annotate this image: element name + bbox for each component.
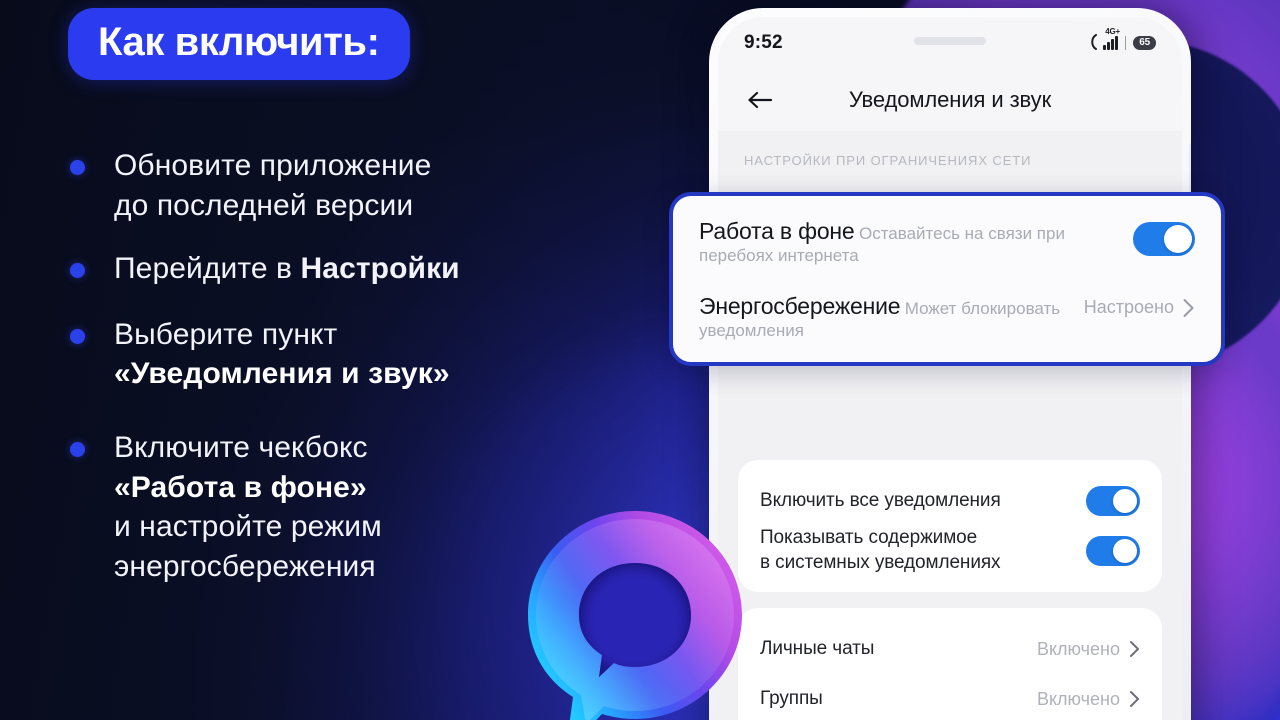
status-badge: Настроено: [1084, 297, 1174, 318]
list-item[interactable]: Энергосбережение Может блокировать уведо…: [699, 293, 1195, 342]
promo-image-root: Как включить: Обновите приложение до пос…: [0, 0, 1280, 720]
bullet-dot-icon: [70, 442, 85, 457]
chats-card: Личные чаты Включено Группы Включено: [738, 608, 1162, 720]
row-text-group: Работа в фоне Оставайтесь на связи при п…: [699, 218, 1133, 267]
status-bar: 9:52 4G+ 65: [718, 17, 1182, 69]
list-item: Выберите пункт «Уведомления и звук»: [66, 315, 646, 394]
row-label: Показывать содержимое в системных уведом…: [760, 526, 1086, 575]
list-item[interactable]: Работа в фоне Оставайтесь на связи при п…: [699, 218, 1195, 267]
step-line: «Уведомления и звук»: [114, 354, 646, 394]
status-badge: Включено: [1037, 689, 1120, 710]
highlighted-settings-card: Работа в фоне Оставайтесь на связи при п…: [669, 192, 1225, 366]
step-line: Выберите пункт: [114, 315, 646, 355]
notifications-card: Включить все уведомления Показывать соде…: [738, 460, 1162, 592]
max-messenger-logo: [523, 505, 748, 720]
signal-bars-icon: 4G+: [1103, 36, 1118, 50]
bullet-dot-icon: [70, 160, 85, 175]
step-line: до последней версии: [114, 186, 646, 226]
row-label: Группы: [760, 687, 1037, 712]
status-time: 9:52: [744, 32, 783, 54]
battery-icon: 65: [1133, 36, 1156, 50]
sim-divider: [1125, 36, 1126, 50]
vibrate-icon: [1089, 34, 1099, 53]
step-text-plain: Перейдите в: [114, 252, 301, 285]
row-label: Личные чаты: [760, 637, 1037, 662]
status-indicators: 4G+ 65: [1089, 34, 1156, 53]
list-item[interactable]: Показывать содержимое в системных уведом…: [760, 526, 1140, 576]
row-label-line2: в системных уведомлениях: [760, 552, 1000, 573]
step-text-bold: Настройки: [301, 252, 460, 285]
section-label: НАСТРОЙКИ ПРИ ОГРАНИЧЕНИЯХ СЕТИ: [718, 131, 1182, 180]
toggle-enable-all-notifications[interactable]: [1086, 486, 1140, 516]
step-line: Включите чекбокс: [114, 428, 646, 468]
chevron-right-icon: [1182, 298, 1195, 318]
step-line: «Работа в фоне»: [114, 468, 646, 508]
list-item[interactable]: Личные чаты Включено: [760, 624, 1140, 674]
app-header: Уведомления и звук: [718, 69, 1182, 131]
row-control: [1133, 218, 1195, 256]
title-banner: Как включить:: [68, 8, 410, 80]
toggle-show-content[interactable]: [1086, 536, 1140, 566]
row-label-line1: Показывать содержимое: [760, 527, 977, 548]
step-line: Перейдите в Настройки: [114, 249, 646, 289]
network-type-label: 4G+: [1105, 27, 1120, 36]
list-item[interactable]: Включить все уведомления: [760, 476, 1140, 526]
page-title: Уведомления и звук: [782, 87, 1162, 113]
row-title: Энергосбережение: [699, 293, 900, 319]
step-line: Обновите приложение: [114, 146, 646, 186]
row-title: Работа в фоне: [699, 218, 855, 244]
list-item: Обновите приложение до последней версии: [66, 146, 646, 225]
bullet-dot-icon: [70, 329, 85, 344]
back-arrow-icon[interactable]: [738, 90, 782, 110]
list-item[interactable]: Группы Включено: [760, 674, 1140, 720]
row-text-group: Энергосбережение Может блокировать уведо…: [699, 293, 1084, 342]
row-control: Настроено: [1084, 293, 1195, 318]
chevron-right-icon: [1129, 690, 1140, 708]
settings-list: Включить все уведомления Показывать соде…: [718, 460, 1182, 720]
list-item: Перейдите в Настройки: [66, 249, 646, 289]
row-value-group: Включено: [1037, 689, 1140, 710]
row-value-group: Включено: [1037, 639, 1140, 660]
camera-notch-icon: [914, 37, 986, 45]
row-label: Включить все уведомления: [760, 489, 1086, 514]
chevron-right-icon: [1129, 640, 1140, 658]
toggle-background-work[interactable]: [1133, 222, 1195, 256]
status-badge: Включено: [1037, 639, 1120, 660]
bullet-dot-icon: [70, 263, 85, 278]
phone-screen: 9:52 4G+ 65: [718, 17, 1182, 720]
page-title: Как включить:: [98, 22, 380, 62]
